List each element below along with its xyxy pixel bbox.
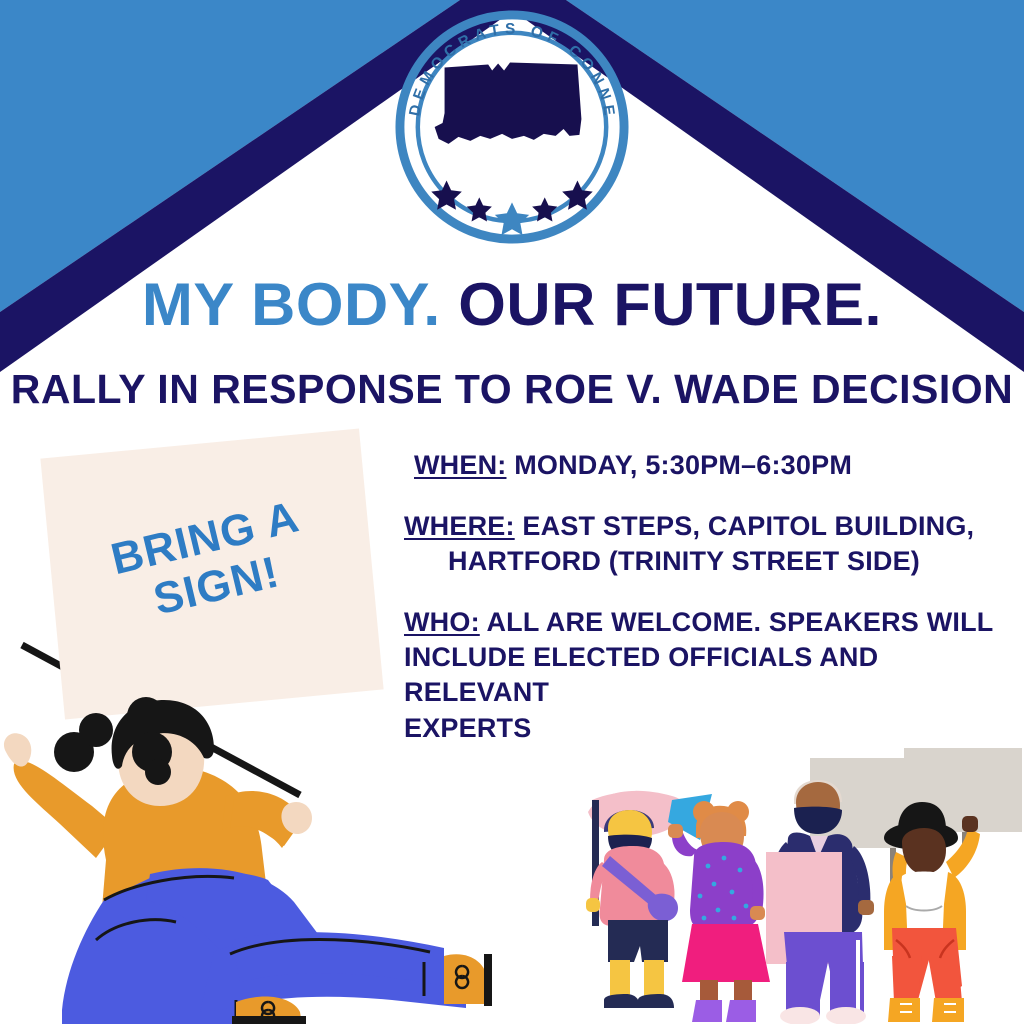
ms-boot-right	[726, 1000, 756, 1022]
ms-boot-left	[692, 1000, 722, 1022]
ms-hand-right	[750, 906, 765, 920]
sr-leg-left	[892, 956, 922, 1002]
sr-leg-right	[928, 956, 962, 1002]
sr-head	[902, 828, 946, 874]
protester-group-illustration	[0, 0, 1024, 1024]
ms-hand-raised	[668, 824, 683, 838]
ms-sweater	[690, 842, 758, 928]
ms-skirt	[682, 924, 770, 982]
fb-shorts	[608, 920, 668, 962]
fb-hand-left	[586, 898, 600, 912]
ph-hand-right	[858, 900, 874, 915]
fb-shoe-right	[638, 994, 674, 1008]
ph-pant-stripe	[856, 940, 860, 1014]
fb-shoe-left	[604, 994, 640, 1008]
figure-megaphone-speaker	[668, 794, 770, 1022]
figure-sign-raiser	[884, 748, 1022, 1022]
sr-boot-right	[932, 998, 964, 1022]
poster-canvas: YOUNG DEMOCRATS OF CONNECTICUT MY BODY. …	[0, 0, 1024, 1024]
sr-boot-left	[888, 998, 920, 1022]
sr-hand-right	[962, 816, 978, 832]
